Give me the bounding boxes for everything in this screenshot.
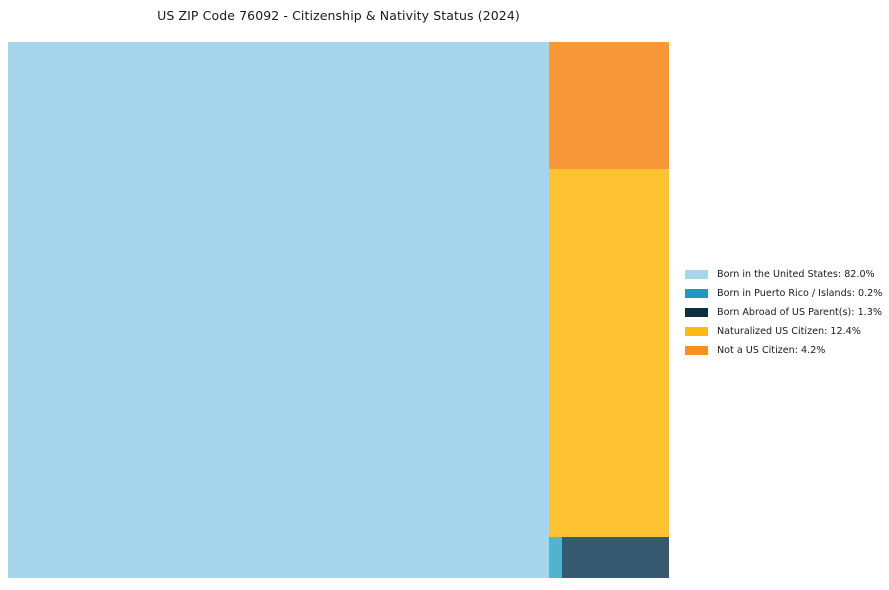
treemap-figure: US ZIP Code 76092 - Citizenship & Nativi… xyxy=(0,0,889,590)
legend-item-label: Born in the United States: 82.0% xyxy=(717,270,875,280)
legend-swatch-icon xyxy=(685,289,708,299)
legend-swatch-icon xyxy=(685,327,708,337)
legend-item[interactable]: Born in the United States: 82.0% xyxy=(685,265,881,284)
legend-swatch-icon xyxy=(685,308,708,318)
treemap-tile[interactable]: 1.3% xyxy=(562,537,669,578)
treemap-tile[interactable]: 4.2% xyxy=(549,42,669,169)
treemap-plot-area: 82.0%4.2%12.4%0.2%1.3% xyxy=(8,42,669,578)
legend-item-label: Born Abroad of US Parent(s): 1.3% xyxy=(717,308,882,318)
treemap-tile[interactable]: 12.4% xyxy=(549,169,669,537)
legend-item[interactable]: Born in Puerto Rico / Islands: 0.2% xyxy=(685,284,881,303)
legend-swatch-icon xyxy=(685,346,708,356)
legend-swatch-icon xyxy=(685,270,708,280)
legend-item-label: Born in Puerto Rico / Islands: 0.2% xyxy=(717,289,882,299)
legend-item[interactable]: Naturalized US Citizen: 12.4% xyxy=(685,322,881,341)
legend-item[interactable]: Not a US Citizen: 4.2% xyxy=(685,341,881,360)
legend-item-label: Not a US Citizen: 4.2% xyxy=(717,346,825,356)
legend-item-label: Naturalized US Citizen: 12.4% xyxy=(717,327,861,337)
legend-item[interactable]: Born Abroad of US Parent(s): 1.3% xyxy=(685,303,881,322)
treemap-tile[interactable]: 0.2% xyxy=(549,537,562,578)
chart-title: US ZIP Code 76092 - Citizenship & Nativi… xyxy=(0,8,677,23)
treemap-tile[interactable]: 82.0% xyxy=(8,42,549,578)
chart-legend: Born in the United States: 82.0%Born in … xyxy=(685,265,881,360)
